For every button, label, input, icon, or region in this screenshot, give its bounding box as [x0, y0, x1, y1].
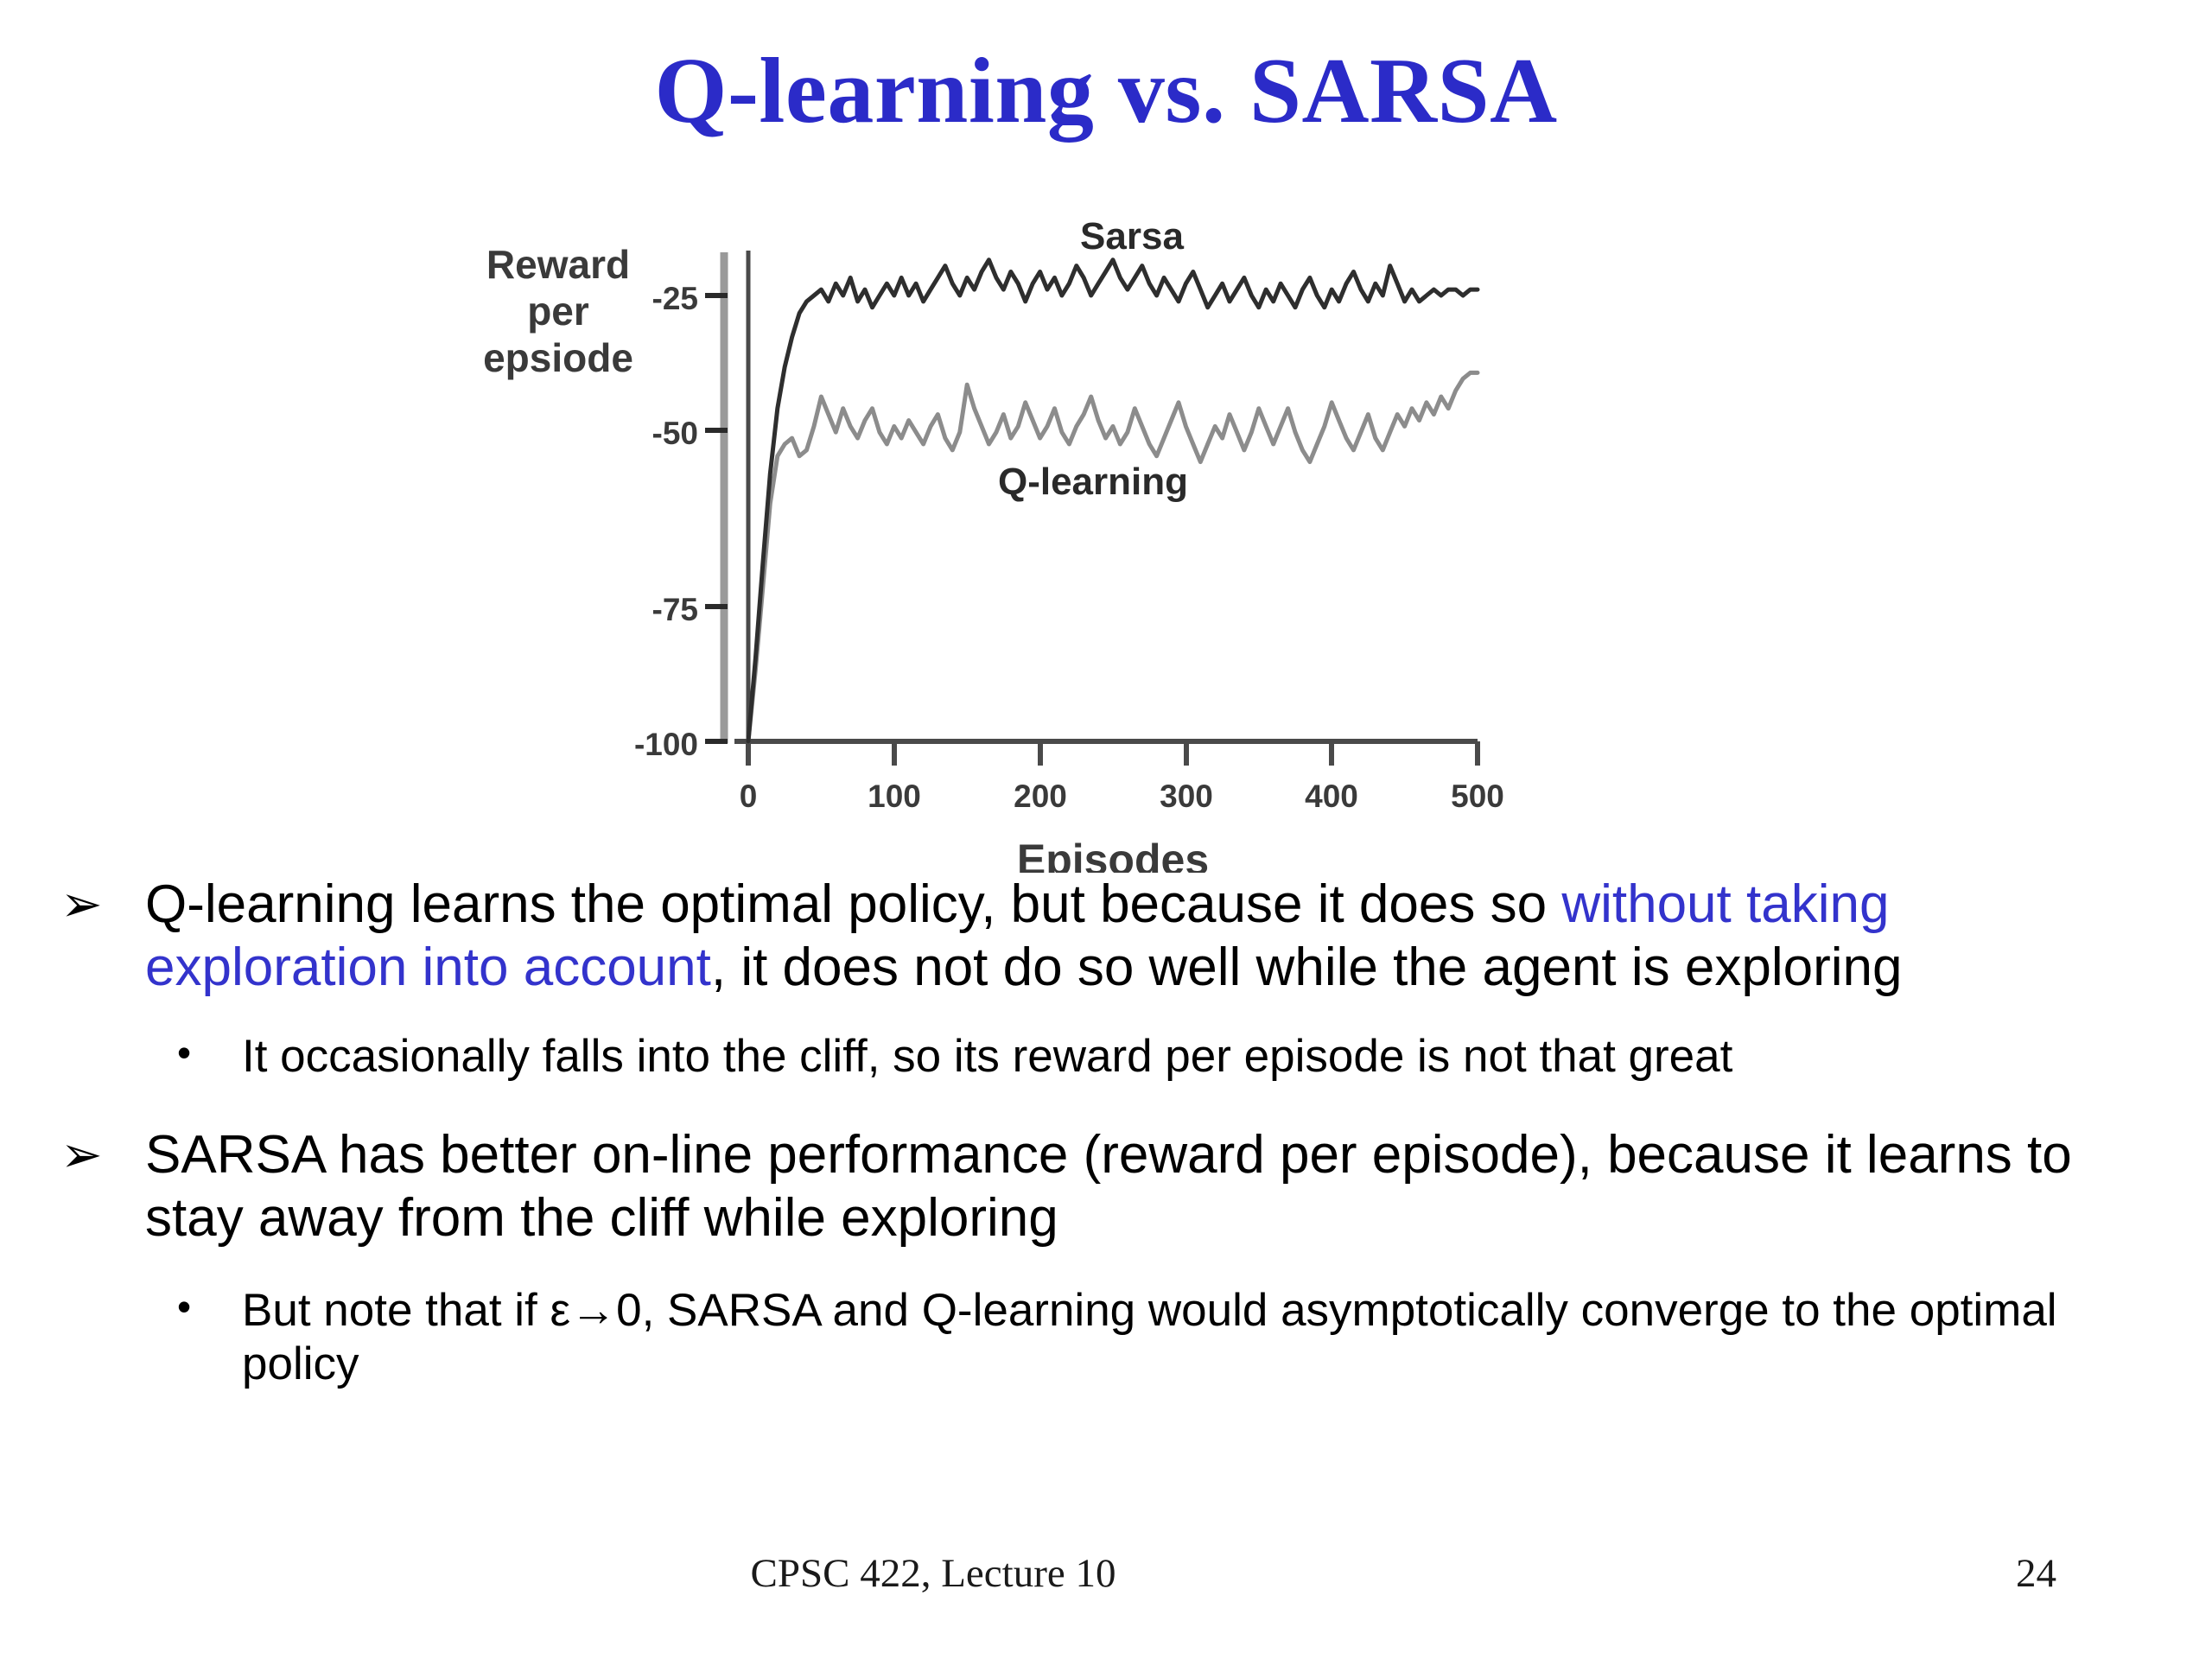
bullet-dot-icon-2: • — [177, 1282, 191, 1332]
series-annotation-sarsa: Sarsa — [1080, 216, 1184, 257]
bullet-1-text-part1: Q-learning learns the optimal policy, bu… — [145, 874, 1561, 934]
slide-number: 24 — [2016, 1550, 2056, 1597]
x-tick-label-4: 400 — [1305, 779, 1358, 814]
x-ticks — [748, 741, 1478, 766]
y-tick-label-0: -25 — [652, 281, 698, 316]
series-line-qlearning — [748, 372, 1478, 741]
y-tick-label-3: -100 — [634, 727, 698, 762]
y-axis-label-line2: per — [527, 289, 589, 334]
footer-course-text: CPSC 422, Lecture 10 — [751, 1551, 1116, 1596]
bullet-1-sub-text: It occasionally falls into the cliff, so… — [242, 1031, 1732, 1082]
page-title: Q-learning vs. SARSA — [0, 45, 2212, 138]
series-annotation-qlearning: Q-learning — [998, 461, 1188, 503]
x-tick-label-5: 500 — [1451, 779, 1504, 814]
x-tick-label-1: 100 — [868, 779, 921, 814]
y-axis-label-line3: epsiode — [483, 335, 633, 380]
y-axis-label-line1: Reward — [486, 242, 630, 287]
bullet-2-sub-text: But note that if ε→0, SARSA and Q-learni… — [242, 1285, 2057, 1389]
y-tick-label-1: -50 — [652, 416, 698, 451]
bullet-dot-icon: • — [177, 1028, 191, 1078]
bullet-1: ➢ Q-learning learns the optimal policy, … — [0, 873, 2212, 999]
bullet-2-text: SARSA has better on-line performance (re… — [145, 1125, 2072, 1248]
x-tick-label-3: 300 — [1160, 779, 1213, 814]
bullet-2-sub: • But note that if ε→0, SARSA and Q-lear… — [0, 1284, 2212, 1390]
slide-body: ➢ Q-learning learns the optimal policy, … — [0, 873, 2212, 1390]
chart-svg: Reward per epsiode -25 -50 -75 -100 0 10 — [449, 216, 1676, 873]
footer-course-label: CPSC 422, Lecture 10 — [0, 1550, 2212, 1597]
bullet-2: ➢ SARSA has better on-line performance (… — [0, 1123, 2212, 1249]
x-tick-label-2: 200 — [1014, 779, 1067, 814]
x-tick-label-0: 0 — [740, 779, 758, 814]
y-tick-label-2: -75 — [652, 592, 698, 627]
bullet-arrow-icon-2: ➢ — [60, 1125, 103, 1184]
reward-per-episode-chart: Reward per epsiode -25 -50 -75 -100 0 10 — [449, 216, 1676, 873]
bullet-arrow-icon: ➢ — [60, 874, 103, 933]
bullet-1-sub: • It occasionally falls into the cliff, … — [0, 1030, 2212, 1083]
bullet-1-text-part2: , it does not do so well while the agent… — [711, 938, 1903, 997]
x-axis-label: Episodes — [1017, 836, 1209, 873]
